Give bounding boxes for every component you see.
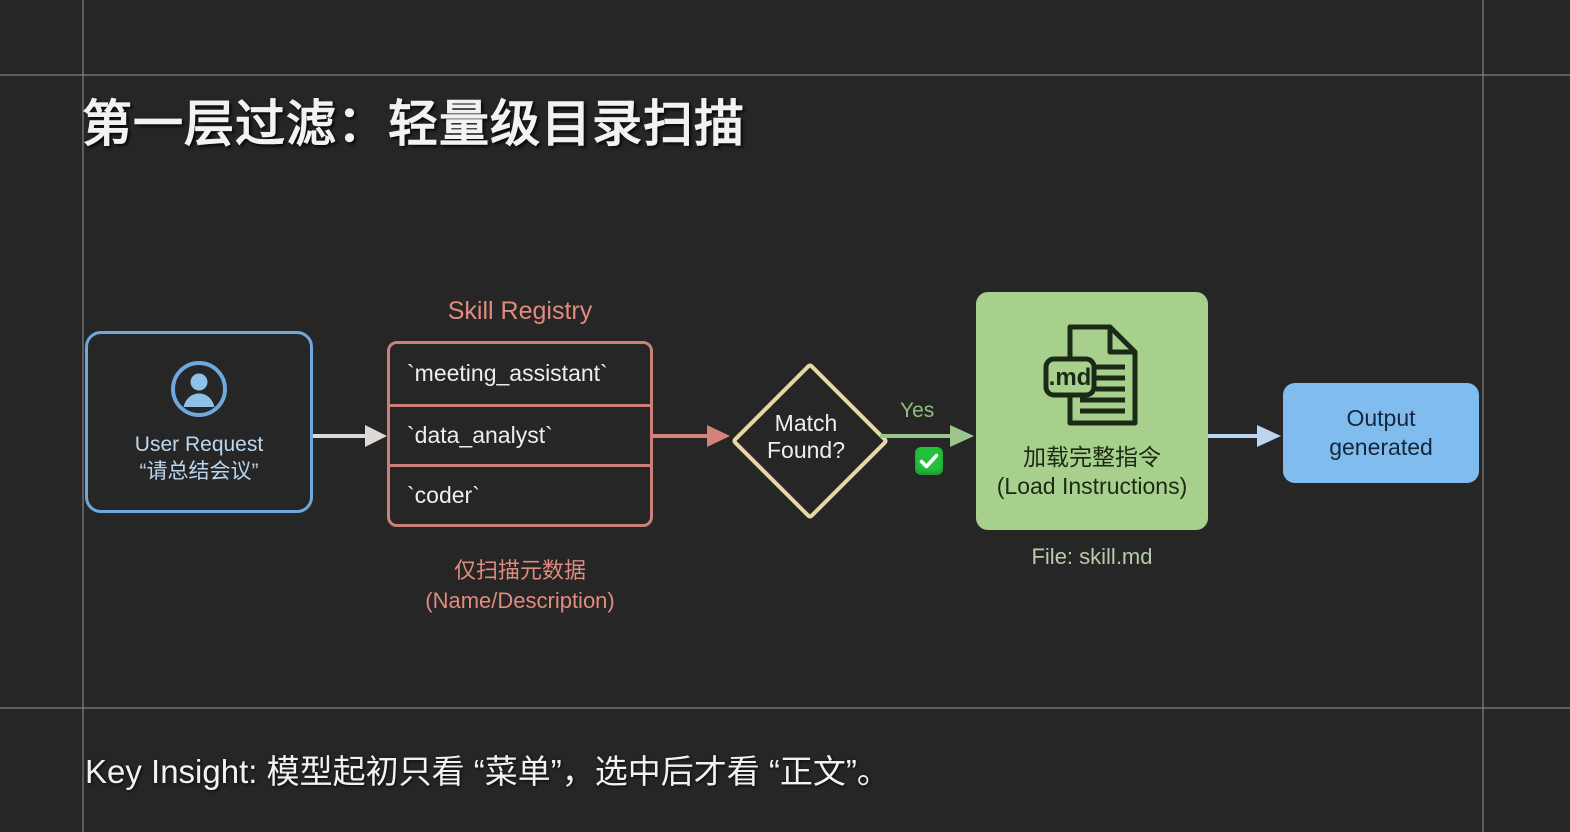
load-instructions-label-en: (Load Instructions) <box>997 472 1187 501</box>
arrow-shaft <box>880 434 954 438</box>
skill-registry-title: Skill Registry <box>387 297 653 326</box>
md-file-icon: .md <box>1040 322 1144 435</box>
key-insight-text: Key Insight: 模型起初只看 “菜单”，选中后才看 “正文”。 <box>85 745 890 793</box>
output-label-line1: Output <box>1346 404 1415 433</box>
check-mark-badge-icon <box>915 447 943 475</box>
skill-registry-caption-line1: 仅扫描元数据 <box>370 556 670 586</box>
node-user-request: User Request “请总结会议” <box>85 331 313 513</box>
arrow-shaft <box>1208 434 1261 438</box>
arrow-head <box>365 425 387 447</box>
node-load-instructions: .md 加载完整指令 (Load Instructions) <box>976 292 1208 530</box>
node-output-generated: Output generated <box>1283 383 1479 483</box>
node-skill-registry: `meeting_assistant` `data_analyst` `code… <box>387 341 653 527</box>
slide-canvas: 第一层过滤：轻量级目录扫描 User Request “请总结会议” Skill… <box>0 0 1570 832</box>
user-circle-icon <box>170 360 228 423</box>
decision-label-line1: Match <box>767 410 845 437</box>
list-item[interactable]: `coder` <box>390 464 650 524</box>
arrow-shaft <box>653 434 711 438</box>
skill-registry-caption-line2: (Name/Description) <box>370 586 670 616</box>
page-title: 第一层过滤：轻量级目录扫描 <box>82 84 745 156</box>
decision-label: Match Found? <box>767 410 845 464</box>
user-request-label-en: User Request <box>135 433 263 457</box>
arrow-head <box>950 425 974 447</box>
list-item[interactable]: `data_analyst` <box>390 404 650 464</box>
skill-registry-caption: 仅扫描元数据 (Name/Description) <box>370 556 670 615</box>
guide-line-horizontal-top <box>0 74 1570 76</box>
node-decision-match-found: Match Found? <box>732 363 880 511</box>
load-instructions-caption: File: skill.md <box>976 544 1208 570</box>
arrow-shaft <box>313 434 369 438</box>
svg-text:.md: .md <box>1049 364 1092 391</box>
guide-line-horizontal-bottom <box>0 707 1570 709</box>
arrow-head <box>1257 425 1281 447</box>
output-label-line2: generated <box>1329 433 1433 462</box>
list-item[interactable]: `meeting_assistant` <box>390 344 650 404</box>
arrow-head <box>707 425 730 447</box>
decision-label-line2: Found? <box>767 437 845 464</box>
load-instructions-label-zh: 加载完整指令 <box>1023 443 1161 472</box>
user-request-label-zh: “请总结会议” <box>140 459 259 484</box>
branch-label-yes: Yes <box>900 399 934 423</box>
